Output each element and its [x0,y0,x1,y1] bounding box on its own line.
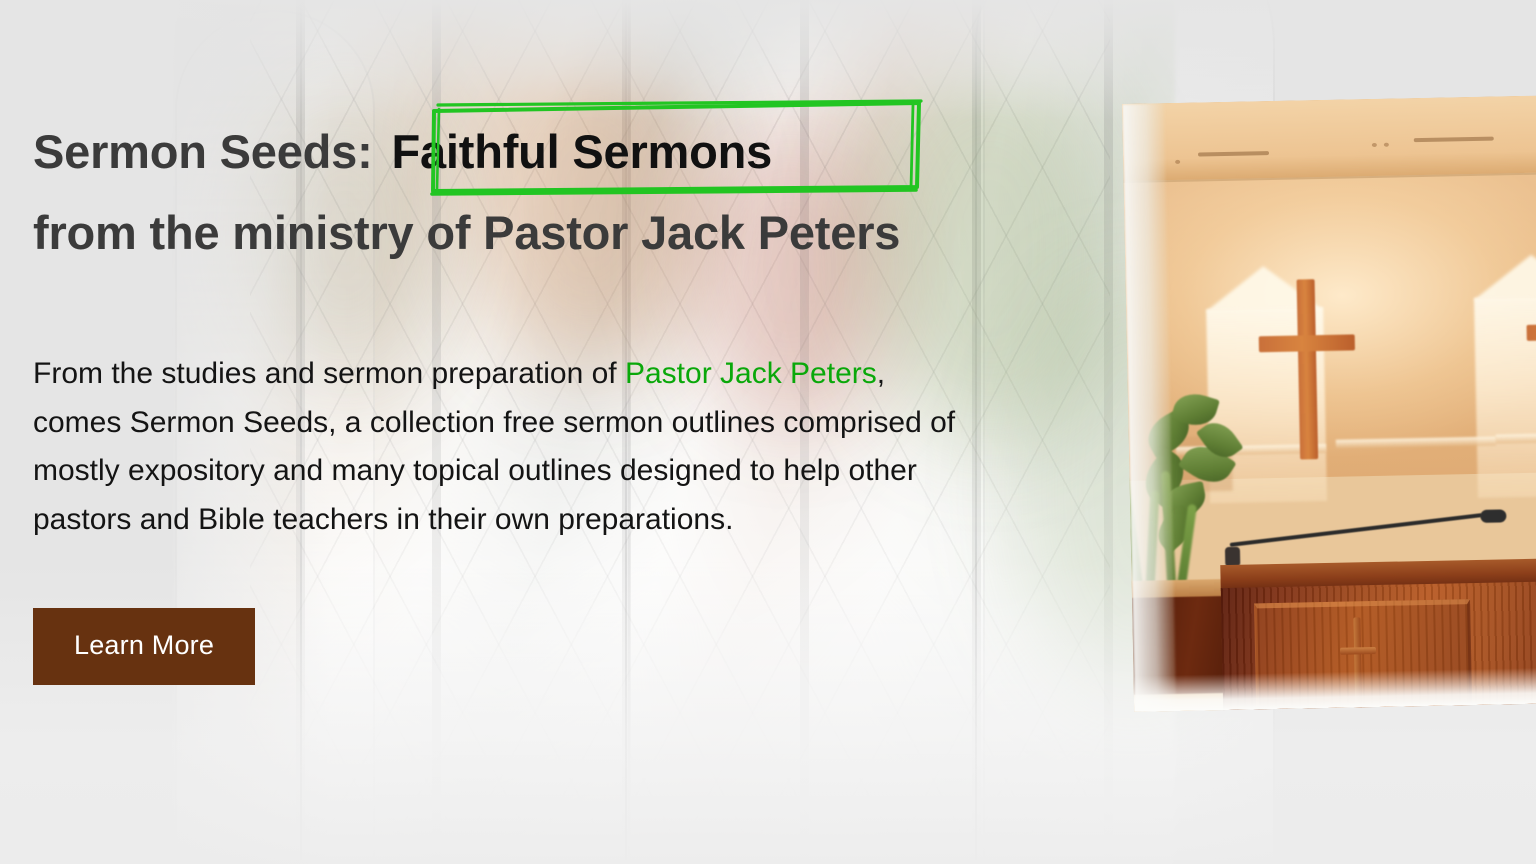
learn-more-button[interactable]: Learn More [33,608,255,685]
microphone-head [1480,510,1506,524]
page-title: Sermon Seeds: Faithful Sermons from the … [33,112,978,274]
hero-section: Sermon Seeds: Faithful Sermons from the … [0,0,1536,864]
headline-prefix: Sermon Seeds: [33,125,373,178]
headline-highlighted-phrase: Faithful Sermons [385,125,778,178]
pastor-jack-peters-link[interactable]: Pastor Jack Peters [625,357,877,390]
sanctuary-photo [1122,95,1536,712]
window-mullion [1104,0,1113,864]
microphone-gooseneck [1229,513,1482,547]
hero-text-column: Sermon Seeds: Faithful Sermons from the … [33,112,978,685]
microphone-base [1225,547,1240,567]
ceiling-fixture [1175,160,1180,164]
wooden-cross-icon [1257,279,1357,461]
hero-description: From the studies and sermon preparation … [33,350,968,546]
description-segment-1: From the studies and sermon preparation … [33,357,625,390]
headline-continuation: from the ministry of Pastor Jack Peters [33,193,900,274]
sanctuary-photo-content [1122,95,1536,712]
